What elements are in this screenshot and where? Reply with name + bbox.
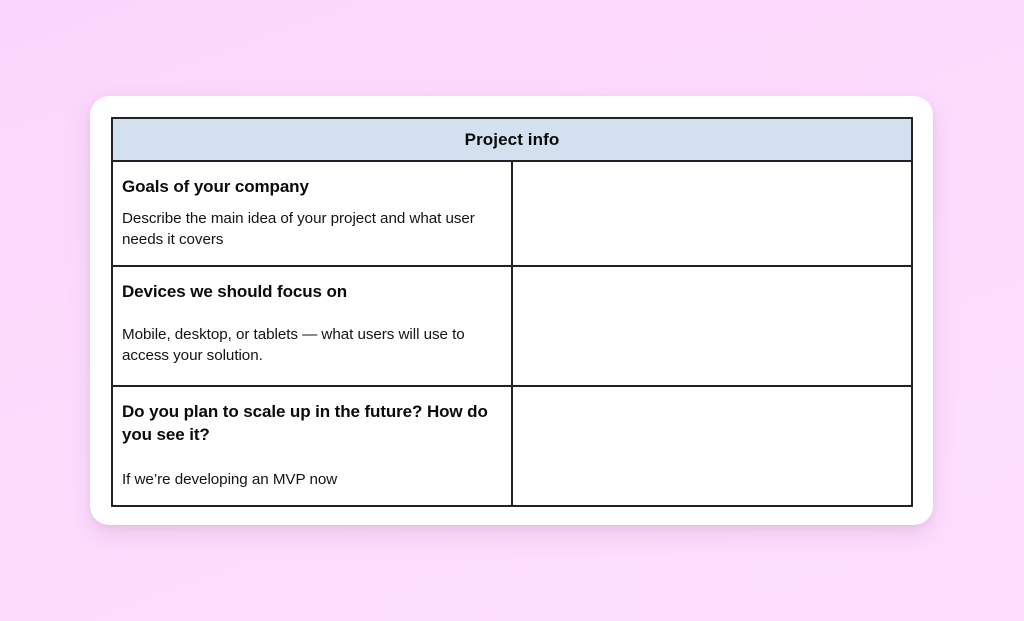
table-title: Project info [112, 118, 912, 161]
table-header: Project info [112, 118, 912, 161]
table-row: Goals of your company Describe the main … [112, 161, 912, 266]
question-title: Do you plan to scale up in the future? H… [122, 401, 495, 446]
table-header-row: Project info [112, 118, 912, 161]
prompt-cell-devices: Devices we should focus on Mobile, deskt… [112, 266, 512, 386]
question-hint: Describe the main idea of your project a… [122, 209, 495, 251]
project-info-card: Project info Goals of your company Descr… [90, 96, 933, 525]
table-row: Do you plan to scale up in the future? H… [112, 386, 912, 506]
prompt-cell-goals: Goals of your company Describe the main … [112, 161, 512, 266]
table-row: Devices we should focus on Mobile, deskt… [112, 266, 912, 386]
question-hint: If we’re developing an MVP now [122, 470, 495, 491]
spacer [122, 446, 495, 470]
page-stage: Project info Goals of your company Descr… [0, 0, 1024, 621]
question-title: Goals of your company [122, 176, 495, 198]
prompt-cell-inner: Goals of your company Describe the main … [113, 162, 511, 265]
answer-cell-scale[interactable] [512, 386, 912, 506]
question-hint: Mobile, desktop, or tablets — what users… [122, 325, 495, 367]
answer-cell-devices[interactable] [512, 266, 912, 386]
project-info-table: Project info Goals of your company Descr… [111, 117, 913, 507]
prompt-cell-inner: Devices we should focus on Mobile, deskt… [113, 267, 511, 380]
answer-cell-goals[interactable] [512, 161, 912, 266]
spacer [122, 304, 495, 325]
spacer [122, 198, 495, 209]
prompt-cell-inner: Do you plan to scale up in the future? H… [113, 387, 511, 505]
prompt-cell-scale: Do you plan to scale up in the future? H… [112, 386, 512, 506]
table-body: Goals of your company Describe the main … [112, 161, 912, 506]
question-title: Devices we should focus on [122, 281, 495, 303]
